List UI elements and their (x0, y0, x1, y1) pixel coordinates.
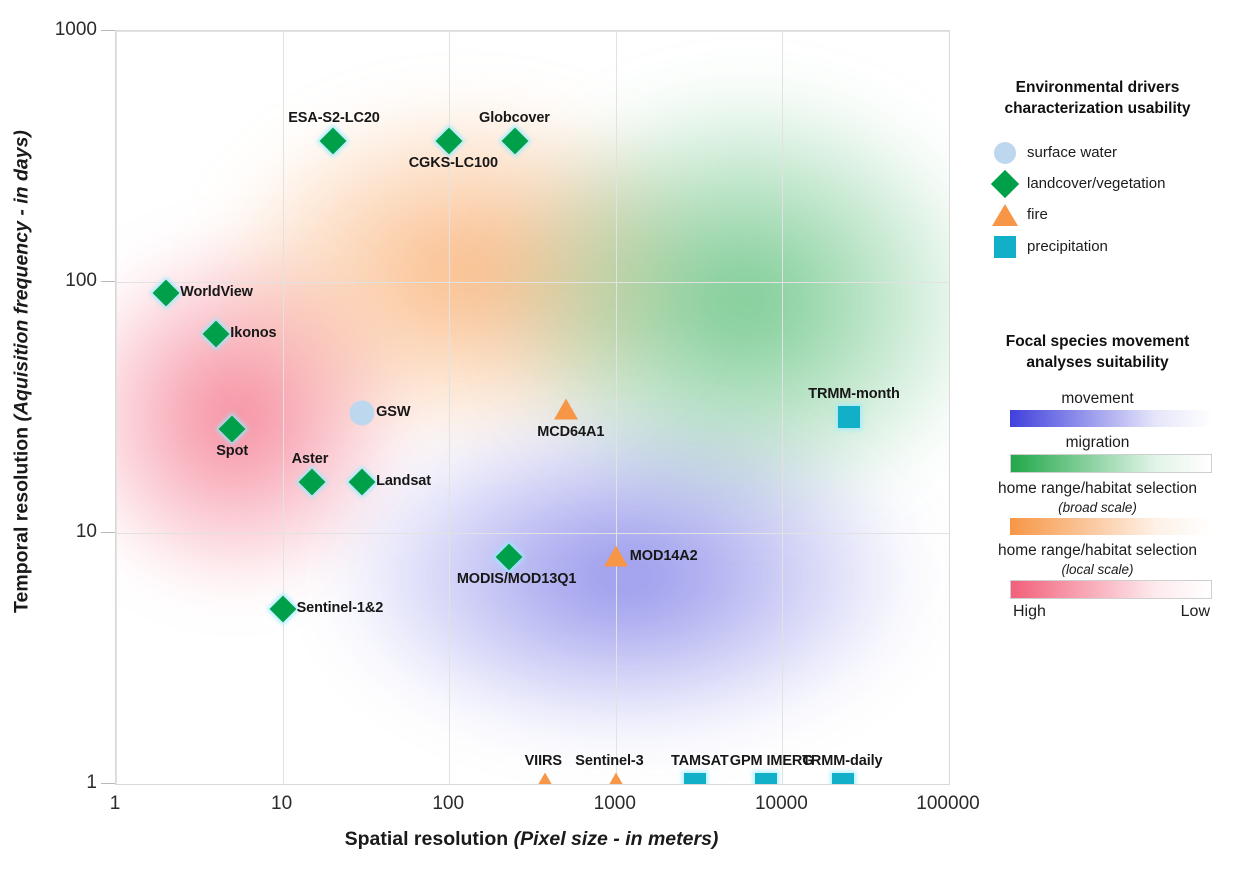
triangle-icon (992, 204, 1018, 226)
gridline-vertical (949, 31, 950, 784)
data-point-marker (496, 544, 523, 571)
data-point-marker (684, 773, 706, 785)
data-point-marker (832, 773, 854, 785)
data-point-label: CGKS-LC100 (409, 155, 498, 171)
x-axis-title-italic: (Pixel size - in meters) (514, 828, 719, 850)
data-point-marker (269, 595, 296, 622)
legend-item-label: surface water (1027, 144, 1117, 161)
gridline-vertical (283, 31, 284, 784)
drivers-legend-title: Environmental drivers characterization u… (955, 78, 1240, 120)
data-point-label: VIIRS (525, 753, 562, 769)
legend-item-label: precipitation (1027, 238, 1108, 255)
y-axis-tick-mark (101, 30, 115, 31)
data-point-label: Spot (216, 443, 248, 459)
y-axis-title-italic: (Aquisition frequency - in days) (11, 130, 33, 421)
data-point-marker (298, 468, 325, 495)
data-point-marker (219, 415, 246, 442)
data-point-marker (349, 468, 376, 495)
data-point-label: GSW (376, 404, 410, 420)
legend-item-square[interactable]: precipitation (983, 236, 1240, 258)
ramp-label: home range/habitat selection (955, 542, 1240, 560)
x-axis-tick-label: 10 (271, 793, 292, 815)
suitability-legend-title-line2: analyses suitability (955, 353, 1240, 374)
legend-symbol-wrap (983, 204, 1027, 226)
drivers-legend-items: surface waterlandcover/vegetationfirepre… (955, 142, 1240, 258)
data-point-label: Globcover (479, 110, 550, 126)
ramp-gradient-bar (1010, 518, 1212, 535)
legend-item-triangle[interactable]: fire (983, 204, 1240, 226)
data-point-label: GPM IMERG (730, 753, 814, 769)
data-point-marker (838, 406, 860, 428)
data-point-label: Sentinel-1&2 (297, 600, 384, 616)
data-point-label: TRMM-month (808, 386, 900, 402)
y-axis-tick-label: 100 (27, 270, 97, 292)
ramp-label: migration (955, 434, 1240, 452)
drivers-legend-title-line2: characterization usability (955, 99, 1240, 120)
data-point-label: MODIS/MOD13Q1 (457, 571, 577, 587)
square-icon (994, 236, 1016, 258)
legend-symbol-wrap (983, 142, 1027, 164)
data-point-marker (604, 772, 628, 785)
x-axis-title-bold: Spatial resolution (345, 828, 509, 850)
data-point-marker (604, 546, 628, 567)
data-point-marker (436, 127, 463, 154)
suitability-legend-title-line1: Focal species movement (955, 332, 1240, 353)
gridline-horizontal (116, 784, 949, 785)
data-point-label: WorldView (180, 284, 253, 300)
data-point-label: Ikonos (230, 325, 276, 341)
ramp-end-low: Low (1181, 603, 1210, 621)
legend-panel: Environmental drivers characterization u… (955, 30, 1240, 820)
ramp-scale-ends: High Low (1013, 603, 1210, 621)
data-point-label: Landsat (376, 473, 431, 489)
data-point-label: Aster (292, 451, 329, 467)
data-point-marker (554, 398, 578, 419)
legend-item-circle[interactable]: surface water (983, 142, 1240, 164)
data-point-label: MOD14A2 (630, 548, 698, 564)
gridline-vertical (116, 31, 117, 784)
legend-symbol-wrap (983, 174, 1027, 194)
ramp-label: home range/habitat selection (955, 480, 1240, 498)
circle-icon (994, 142, 1016, 164)
blob-local-scale (115, 181, 466, 651)
data-point-marker (502, 127, 529, 154)
y-axis-tick-mark (101, 783, 115, 784)
ramp-gradient-bar (1010, 454, 1212, 473)
y-axis-title-bold: Temporal resolution (11, 427, 33, 613)
gridline-vertical (782, 31, 783, 784)
data-point-label: ESA-S2-LC20 (288, 110, 380, 126)
x-axis-tick-label: 100 (432, 793, 464, 815)
ramp-sublabel: (local scale) (955, 562, 1240, 577)
ramp-label: movement (955, 390, 1240, 408)
legend-item-label: landcover/vegetation (1027, 175, 1165, 192)
x-axis-tick-label: 10000 (755, 793, 808, 815)
data-point-marker (755, 773, 777, 785)
gridline-horizontal (116, 282, 949, 283)
x-axis-tick-label: 1000 (594, 793, 636, 815)
scatter-plot-area: ESA-S2-LC20CGKS-LC100GlobcoverWorldViewI… (115, 30, 950, 785)
gridline-vertical (616, 31, 617, 784)
legend-item-label: fire (1027, 206, 1048, 223)
data-point-marker (533, 772, 557, 785)
legend-symbol-wrap (983, 236, 1027, 258)
ramp-end-high: High (1013, 603, 1046, 621)
suitability-ramps: movementmigrationhome range/habitat sele… (955, 390, 1240, 599)
x-axis-title: Spatial resolution (Pixel size - in mete… (115, 828, 948, 851)
suitability-legend-title: Focal species movement analyses suitabil… (955, 332, 1240, 374)
y-axis-title: Temporal resolution (Aquisition frequenc… (11, 92, 34, 652)
data-point-label: Sentinel-3 (575, 753, 643, 769)
data-point-marker (319, 127, 346, 154)
y-axis-tick-label: 1000 (27, 19, 97, 41)
legend-item-diamond[interactable]: landcover/vegetation (983, 174, 1240, 194)
diamond-icon (991, 170, 1019, 198)
ramp-gradient-bar (1010, 410, 1212, 427)
y-axis-tick-mark (101, 281, 115, 282)
y-axis-tick-label: 1 (27, 772, 97, 794)
data-point-marker (203, 321, 230, 348)
data-point-marker (153, 280, 180, 307)
gridline-horizontal (116, 533, 949, 534)
x-axis-tick-label: 1 (110, 793, 121, 815)
drivers-legend-title-line1: Environmental drivers (955, 78, 1240, 99)
y-axis-tick-mark (101, 532, 115, 533)
ramp-sublabel: (broad scale) (955, 500, 1240, 515)
y-axis-tick-label: 10 (27, 521, 97, 543)
ramp-gradient-bar (1010, 580, 1212, 599)
data-point-marker (350, 401, 375, 426)
data-point-label: TAMSAT (671, 753, 729, 769)
data-point-label: MCD64A1 (537, 424, 604, 440)
data-point-label: TRMM-daily (802, 753, 882, 769)
gridline-horizontal (116, 31, 949, 32)
